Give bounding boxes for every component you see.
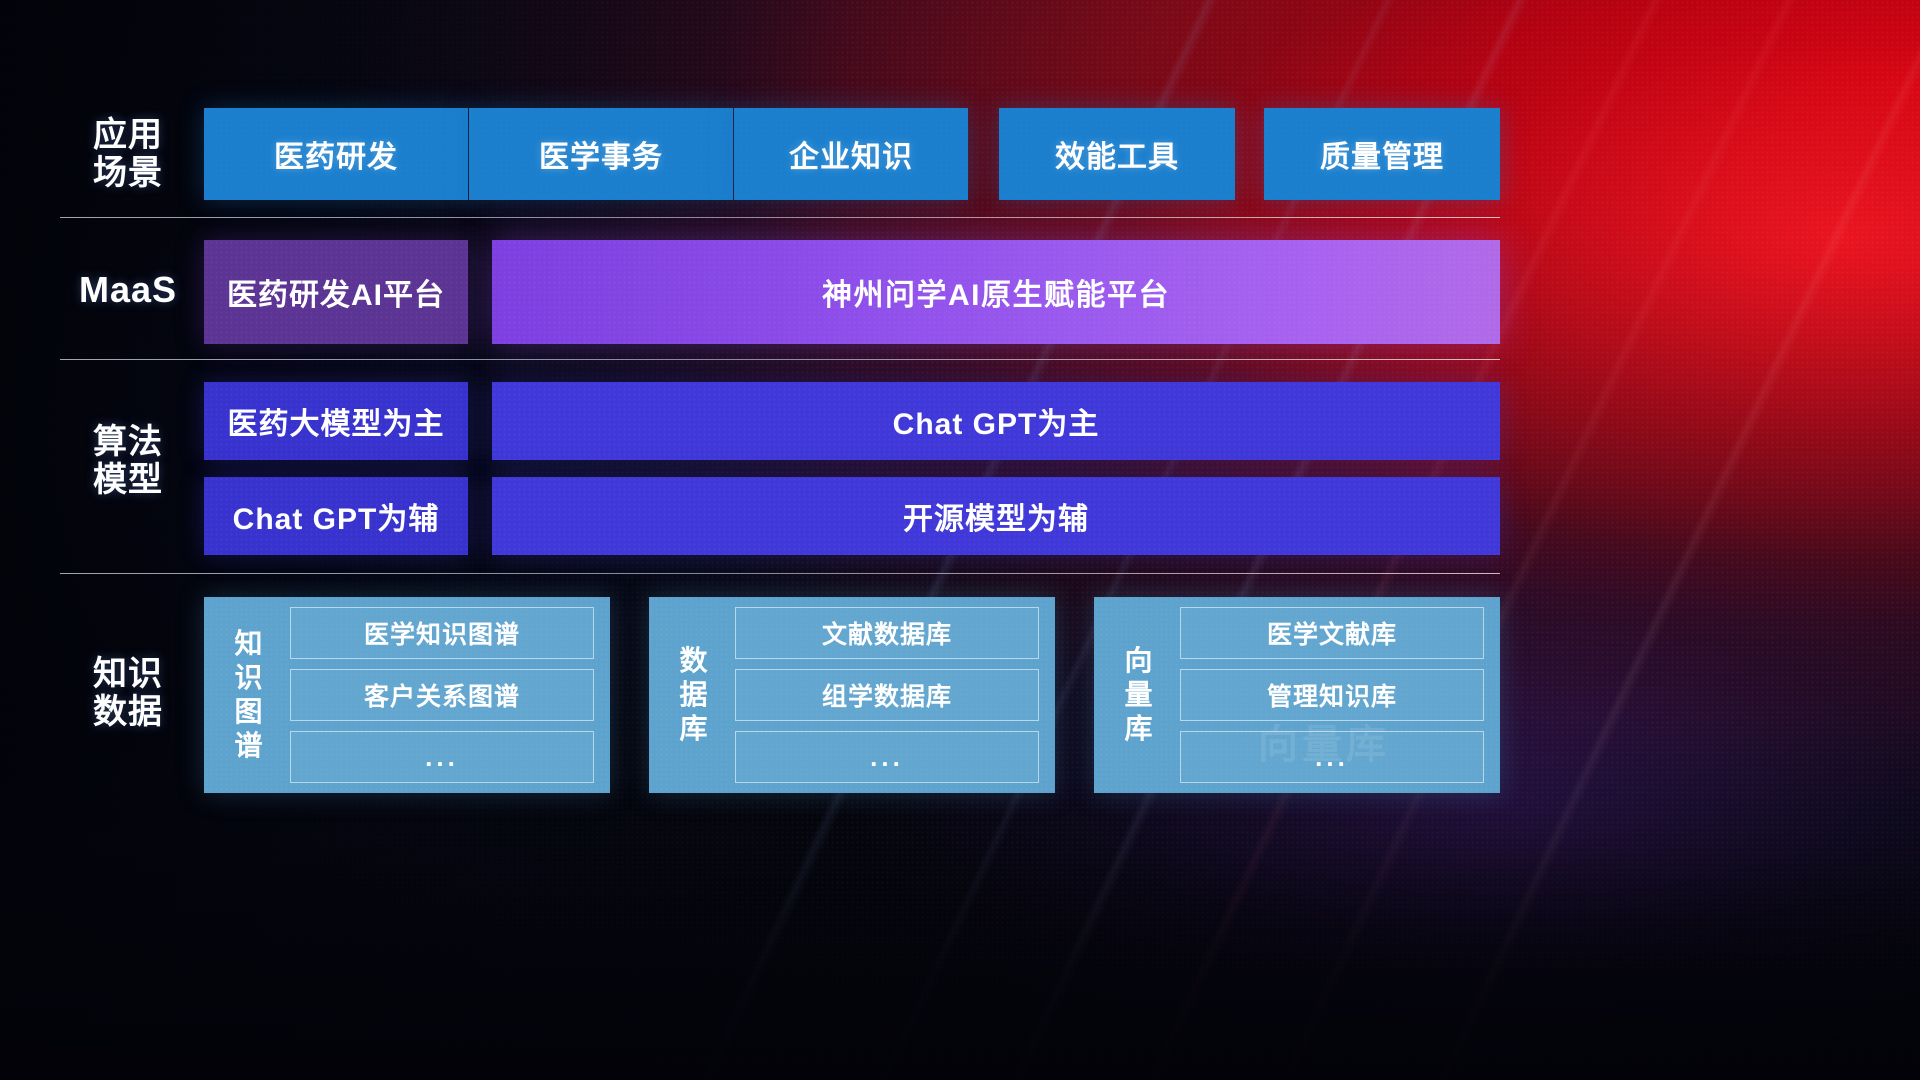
app-tile-medical-affairs[interactable]: 医学事务 xyxy=(469,108,733,200)
knowledge-item-medical-literature-store[interactable]: 医学文献库 xyxy=(1180,607,1484,659)
knowledge-card-title: 数 据 库 xyxy=(663,644,725,746)
row-label-knowledge: 知识 数据 xyxy=(60,655,196,731)
knowledge-item-customer-relation-graph[interactable]: 客户关系图谱 xyxy=(290,669,594,721)
knowledge-card-title: 知 识 图 谱 xyxy=(218,627,280,764)
divider-algorithm-knowledge xyxy=(60,573,1500,574)
slide-canvas: 应用 场景 医药研发 医学事务 企业知识 效能工具 质量管理 MaaS 医药研发… xyxy=(0,0,1920,1080)
app-tile-medicine-rd[interactable]: 医药研发 xyxy=(204,108,468,200)
knowledge-card-title: 向 量 库 xyxy=(1108,644,1170,746)
maas-tile-shenzhou-wenxue-platform[interactable]: 神州问学AI原生赋能平台 xyxy=(492,240,1500,344)
knowledge-card-item-list: 文献数据库 组学数据库 ... xyxy=(735,607,1039,783)
algo-tile-chatgpt-primary[interactable]: Chat GPT为主 xyxy=(492,382,1500,460)
row-label-application: 应用 场景 xyxy=(60,116,196,192)
knowledge-card-vector-store[interactable]: 向 量 库 医学文献库 管理知识库 ... xyxy=(1094,597,1500,793)
maas-tile-medicine-rd-ai-platform[interactable]: 医药研发AI平台 xyxy=(204,240,468,344)
algo-tile-medicine-large-model-primary[interactable]: 医药大模型为主 xyxy=(204,382,468,460)
knowledge-item-more[interactable]: ... xyxy=(290,731,594,783)
knowledge-item-management-knowledge-store[interactable]: 管理知识库 xyxy=(1180,669,1484,721)
algo-tile-opensource-model-secondary[interactable]: 开源模型为辅 xyxy=(492,477,1500,555)
knowledge-card-item-list: 医学知识图谱 客户关系图谱 ... xyxy=(290,607,594,783)
knowledge-item-medical-knowledge-graph[interactable]: 医学知识图谱 xyxy=(290,607,594,659)
row-label-maas: MaaS xyxy=(60,270,196,310)
knowledge-item-literature-database[interactable]: 文献数据库 xyxy=(735,607,1039,659)
knowledge-item-more[interactable]: ... xyxy=(1180,731,1484,783)
knowledge-item-more[interactable]: ... xyxy=(735,731,1039,783)
knowledge-item-omics-database[interactable]: 组学数据库 xyxy=(735,669,1039,721)
row-label-algorithm: 算法 模型 xyxy=(60,423,196,499)
divider-application-maas xyxy=(60,217,1500,218)
divider-maas-algorithm xyxy=(60,359,1500,360)
app-tile-enterprise-knowledge[interactable]: 企业知识 xyxy=(734,108,968,200)
app-tile-quality-management[interactable]: 质量管理 xyxy=(1264,108,1500,200)
knowledge-card-database[interactable]: 数 据 库 文献数据库 组学数据库 ... xyxy=(649,597,1055,793)
app-tile-efficiency-tools[interactable]: 效能工具 xyxy=(999,108,1235,200)
knowledge-card-knowledge-graph[interactable]: 知 识 图 谱 医学知识图谱 客户关系图谱 ... xyxy=(204,597,610,793)
algo-tile-chatgpt-secondary[interactable]: Chat GPT为辅 xyxy=(204,477,468,555)
knowledge-card-item-list: 医学文献库 管理知识库 ... xyxy=(1180,607,1484,783)
